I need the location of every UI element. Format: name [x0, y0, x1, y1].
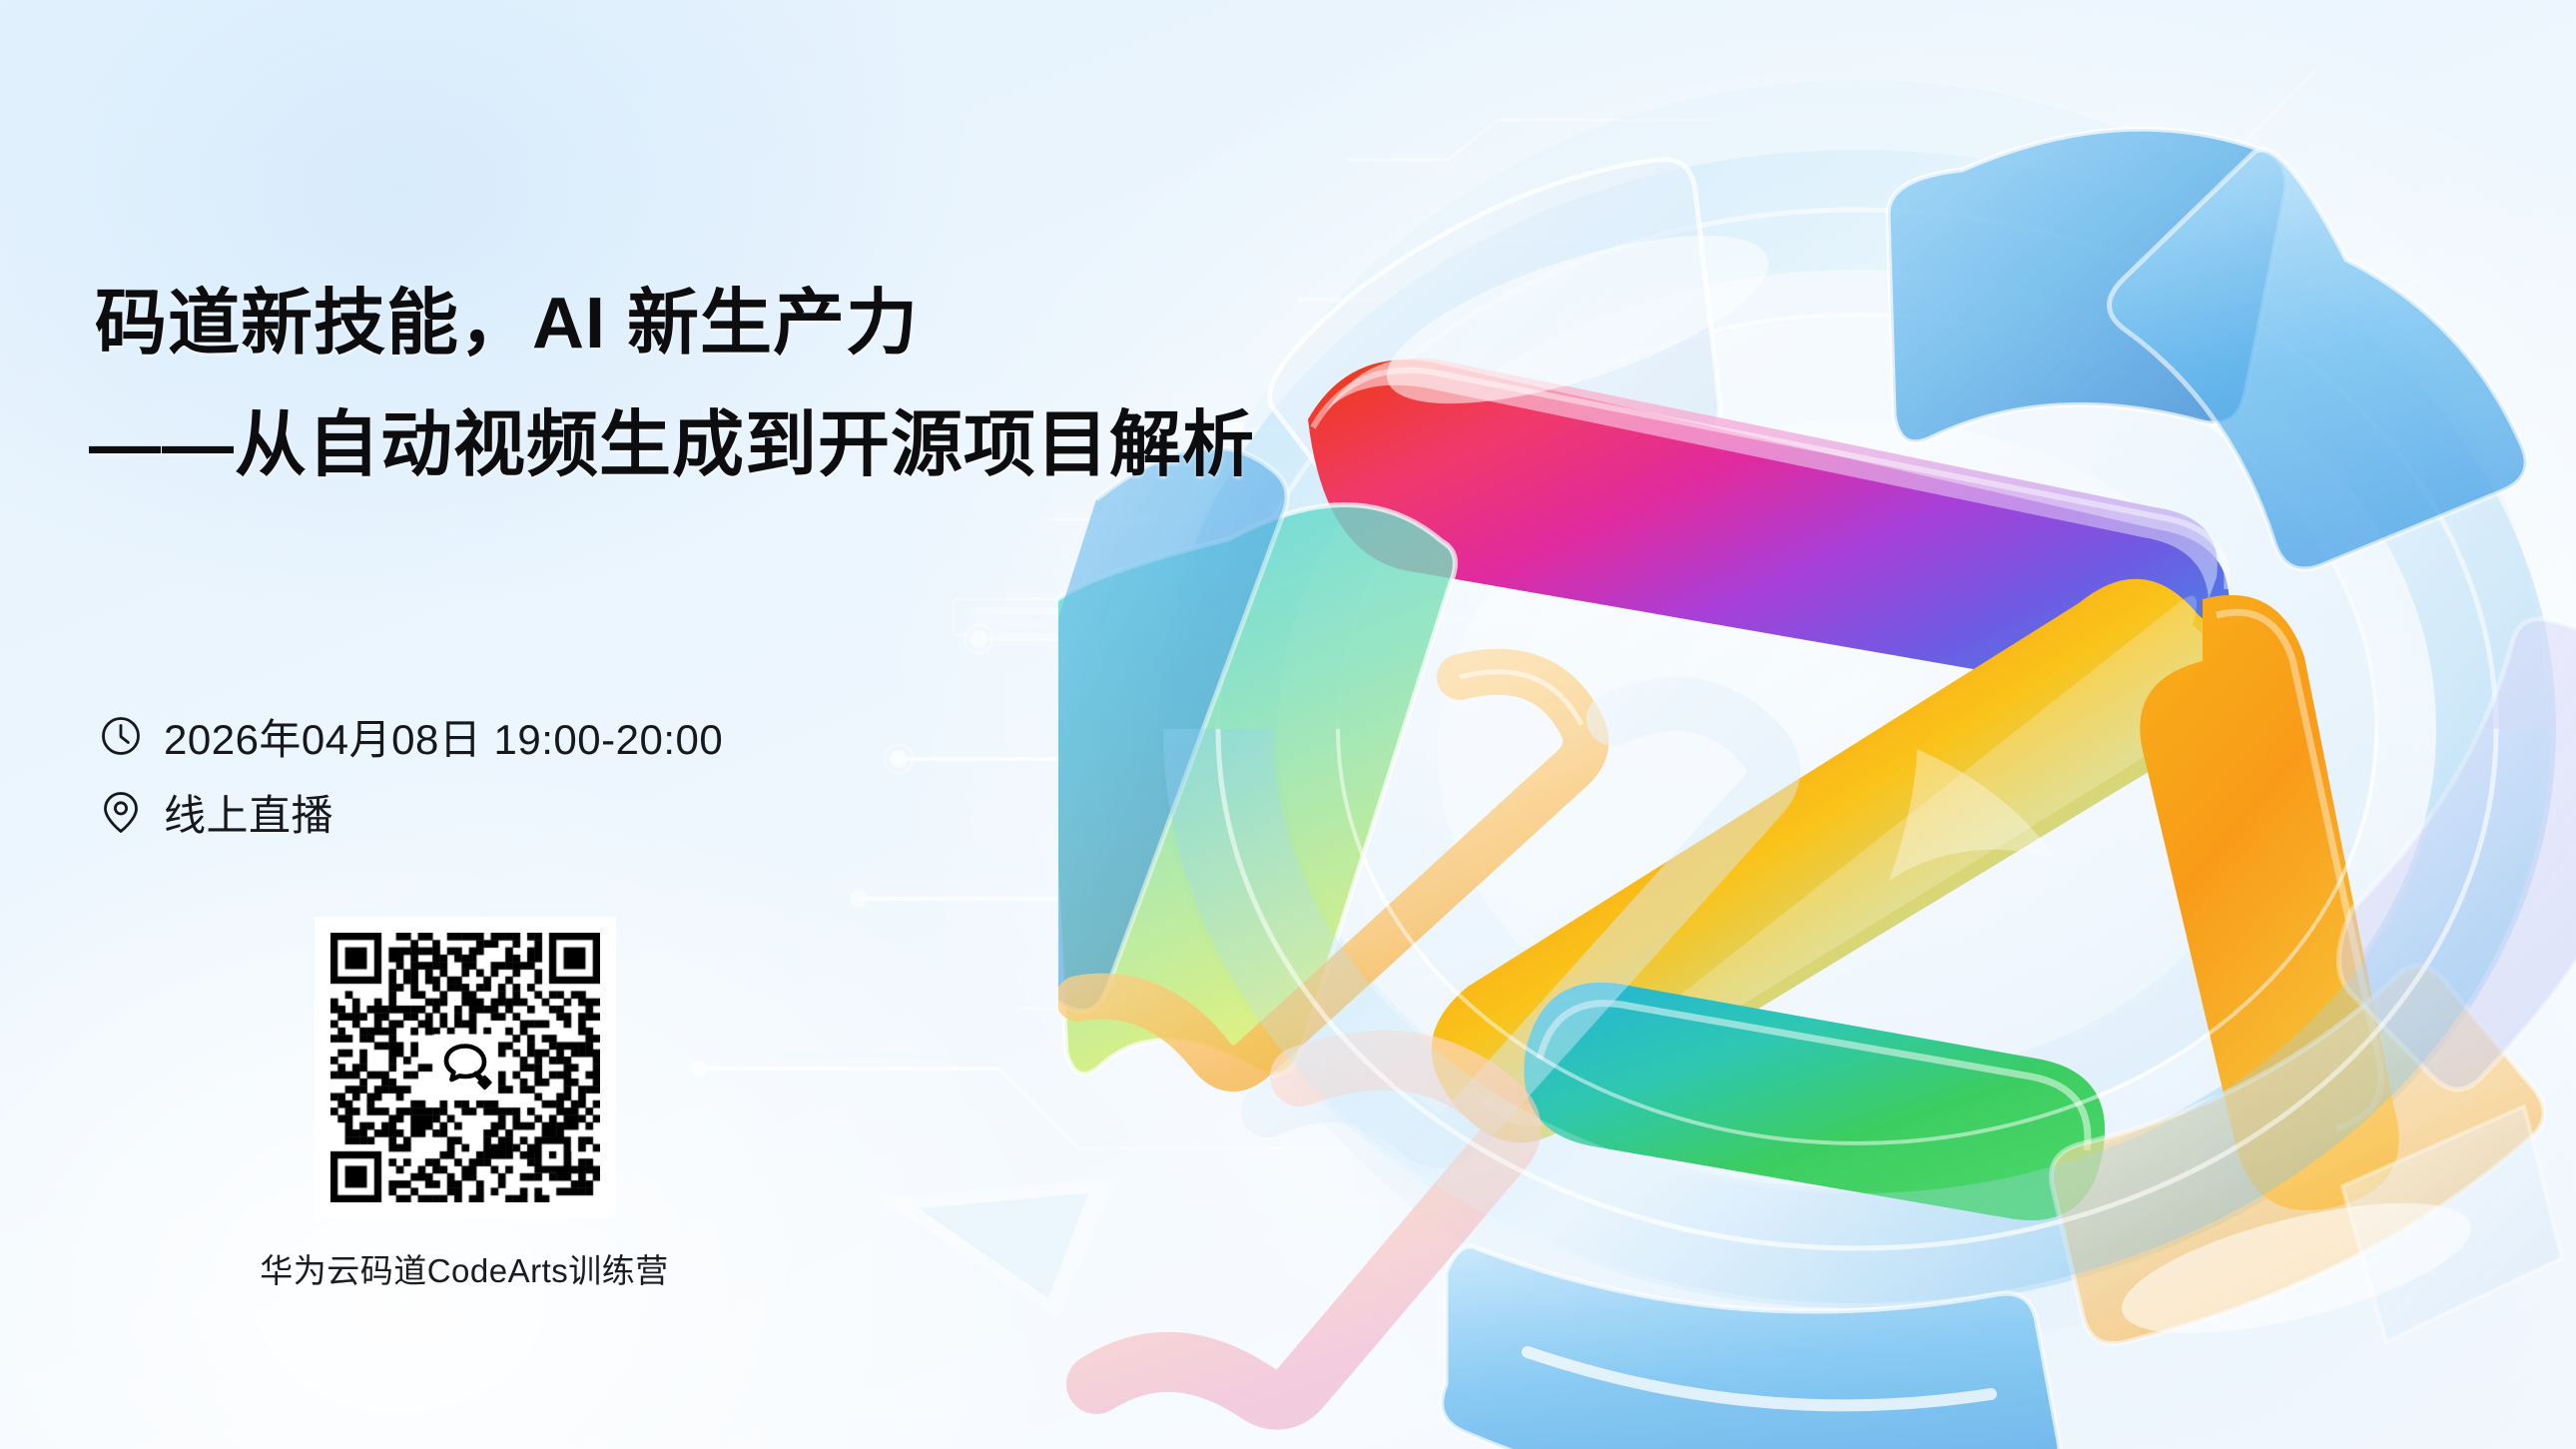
event-time-label: 2026年04月08日 19:00-20:00 — [164, 706, 723, 767]
qr-block: 华为云码道CodeArts训练营 — [230, 917, 629, 1292]
clock-icon — [98, 713, 144, 759]
title-line-2: ——从自动视频生成到开源项目解析 — [89, 409, 1433, 481]
qr-code[interactable] — [315, 917, 616, 1218]
event-time-row: 2026年04月08日 19:00-20:00 — [98, 705, 723, 767]
content-column: 码道新技能，AI 新生产力 ——从自动视频生成到开源项目解析 2026年04月0… — [95, 0, 1443, 1449]
page-title: 码道新技能，AI 新生产力 ——从自动视频生成到开源项目解析 — [95, 288, 1433, 481]
wechat-chat-bubble-icon — [434, 1035, 496, 1101]
event-meta: 2026年04月08日 19:00-20:00 线上直播 — [98, 705, 723, 857]
event-poster: 码道新技能，AI 新生产力 ——从自动视频生成到开源项目解析 2026年04月0… — [0, 0, 2576, 1449]
event-location-label: 线上直播 — [164, 782, 333, 843]
qr-caption: 华为云码道CodeArts训练营 — [230, 1244, 699, 1292]
map-pin-icon — [98, 789, 144, 835]
title-line-1: 码道新技能，AI 新生产力 — [95, 288, 1433, 360]
event-location-row: 线上直播 — [98, 781, 723, 843]
